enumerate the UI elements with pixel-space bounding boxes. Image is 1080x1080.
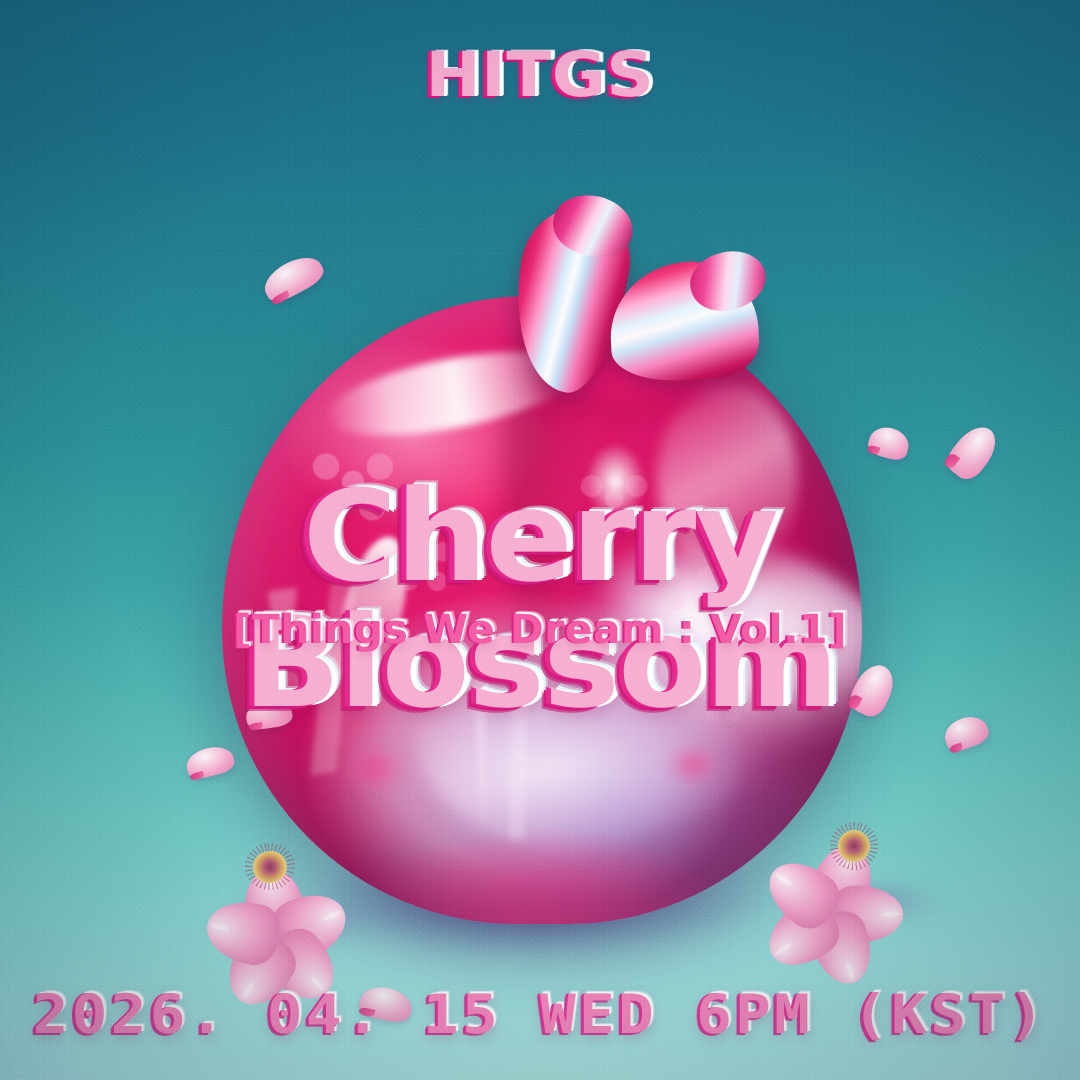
poster-text-layer: HITGS Cherry Blossom [Things We Dream : … xyxy=(0,0,1080,1080)
page-title: Cherry Blossom xyxy=(0,474,1080,726)
album-subtitle: [Things We Dream : Vol.1] xyxy=(0,610,1080,650)
album-poster: HITGS Cherry Blossom [Things We Dream : … xyxy=(0,0,1080,1080)
brand-logo: HITGS xyxy=(0,44,1080,106)
release-date: 2026. 04. 15 WED 6PM (KST) xyxy=(0,988,1080,1042)
